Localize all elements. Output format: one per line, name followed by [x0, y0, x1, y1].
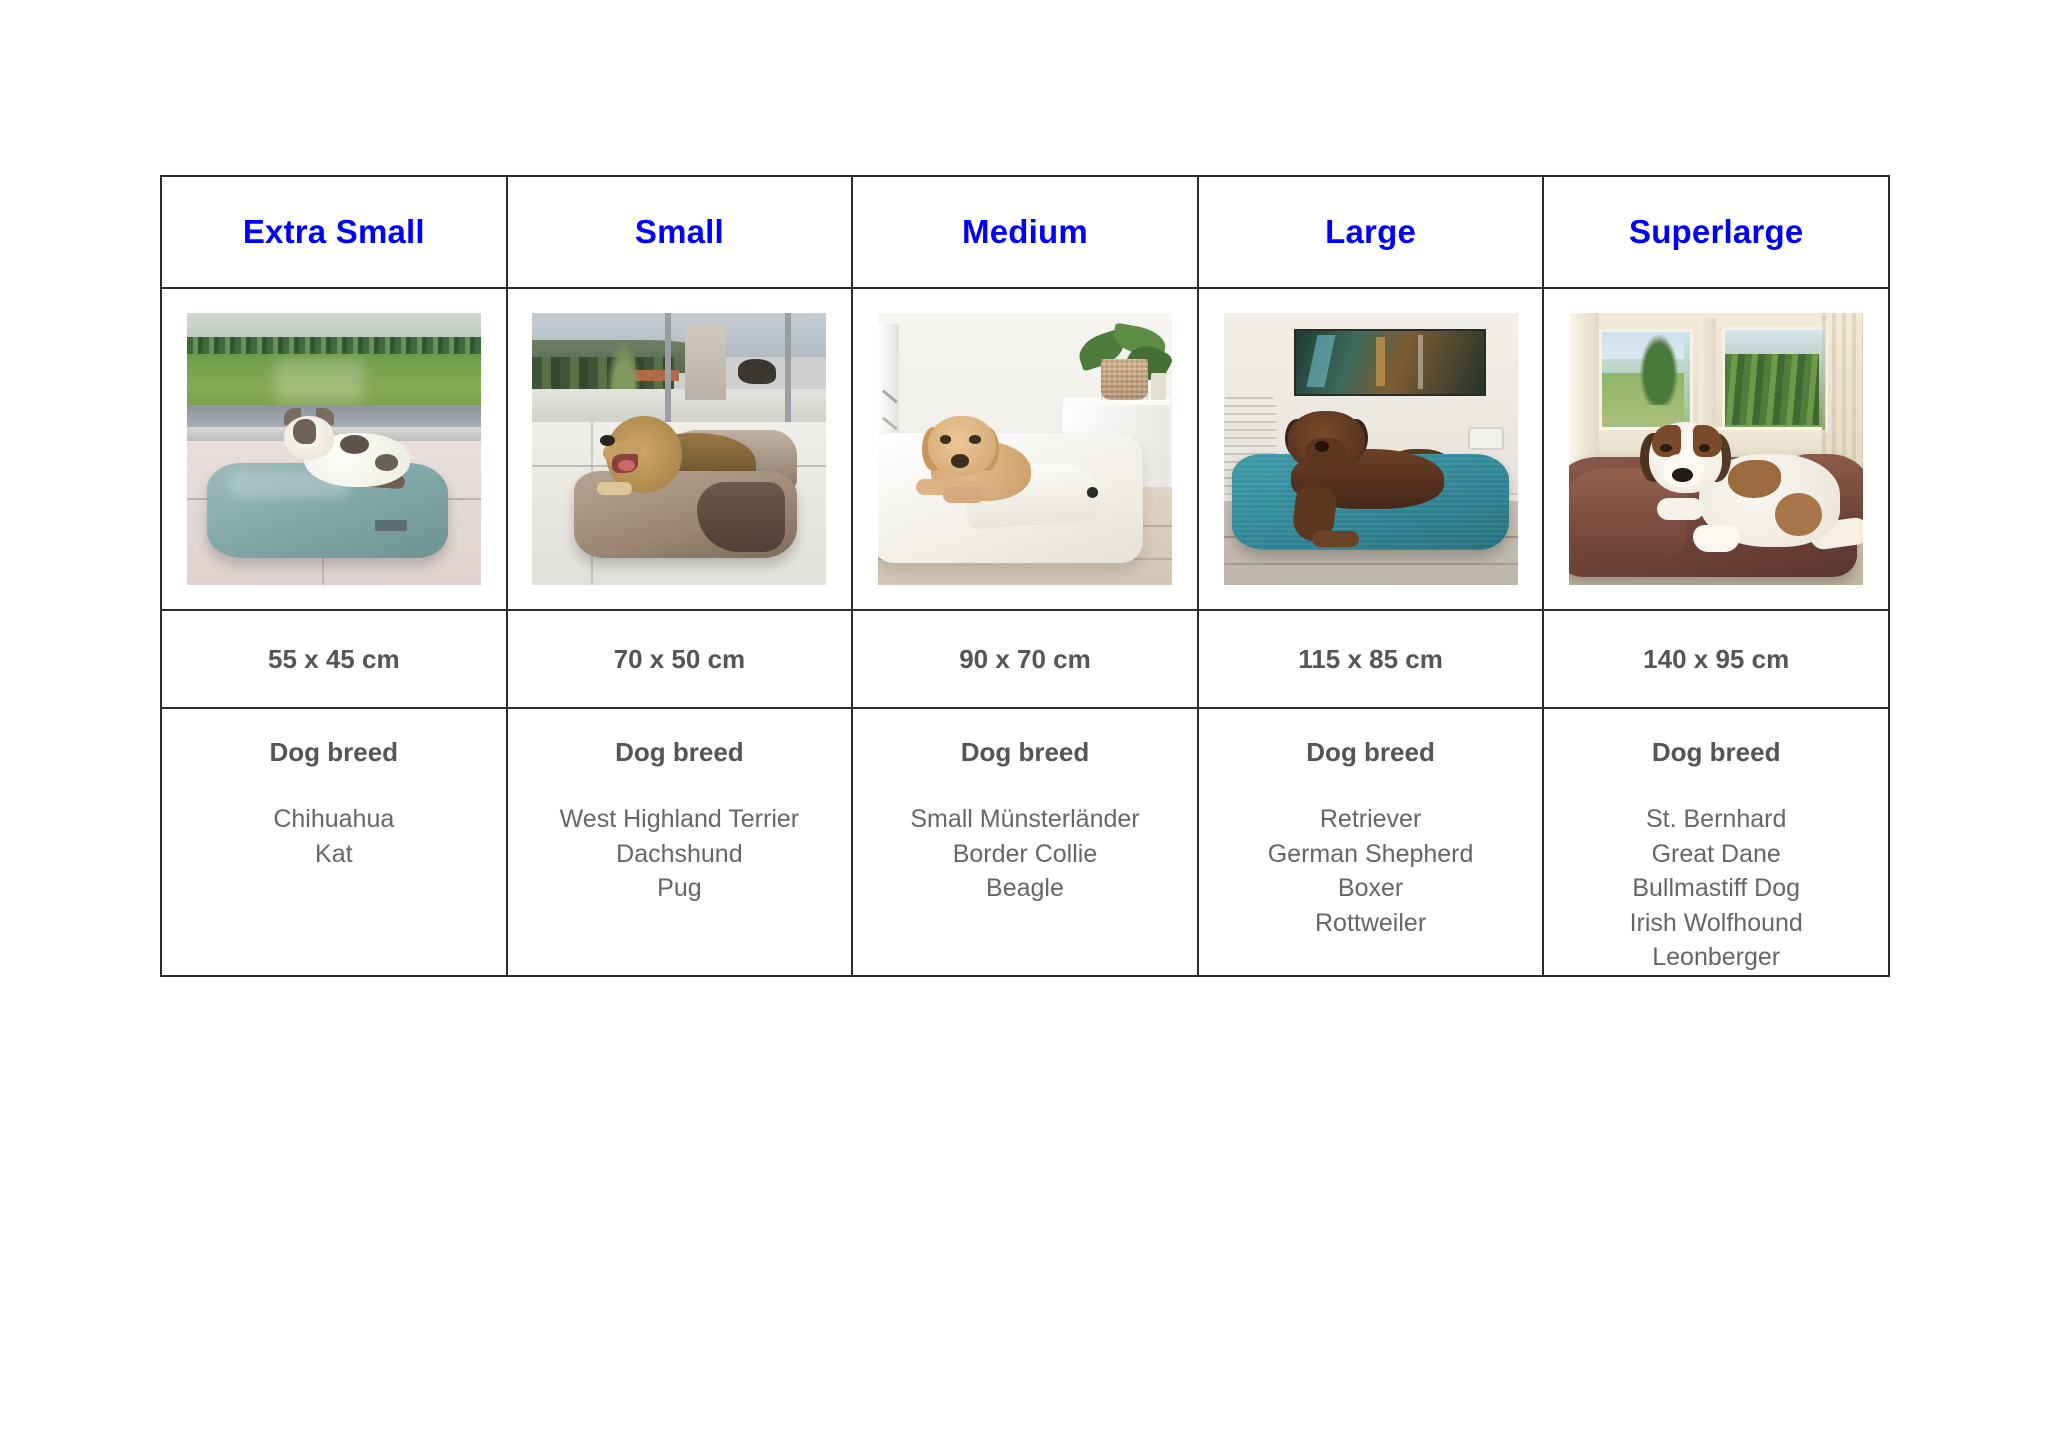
breed-heading-small: Dog breed — [508, 737, 852, 768]
dog-bed-size-table: Extra Small Small Medium Large Superlarg… — [160, 175, 1890, 977]
header-cell-superlarge: Superlarge — [1543, 176, 1889, 288]
list-item: St. Bernhard — [1544, 802, 1888, 837]
breeds-cell-large: Dog breed Retriever German Shepherd Boxe… — [1198, 708, 1544, 976]
dimensions-small: 70 x 50 cm — [508, 644, 852, 675]
size-title-small: Small — [508, 214, 852, 250]
dimensions-large: 115 x 85 cm — [1199, 644, 1543, 675]
product-photo-superlarge — [1569, 313, 1863, 585]
list-item: Great Dane — [1544, 837, 1888, 872]
table-photo-row — [161, 288, 1889, 610]
size-title-extra-small: Extra Small — [162, 214, 506, 250]
header-cell-medium: Medium — [852, 176, 1198, 288]
dimensions-cell-large: 115 x 85 cm — [1198, 610, 1544, 708]
breeds-cell-superlarge: Dog breed St. Bernhard Great Dane Bullma… — [1543, 708, 1889, 976]
size-title-large: Large — [1199, 214, 1543, 250]
photo-cell-extra-small — [161, 288, 507, 610]
list-item: Leonberger — [1544, 940, 1888, 975]
breed-heading-superlarge: Dog breed — [1544, 737, 1888, 768]
breeds-cell-medium: Dog breed Small Münsterländer Border Col… — [852, 708, 1198, 976]
dimensions-superlarge: 140 x 95 cm — [1544, 644, 1888, 675]
dimensions-cell-medium: 90 x 70 cm — [852, 610, 1198, 708]
photo-cell-large — [1198, 288, 1544, 610]
table-breeds-row: Dog breed Chihuahua Kat Dog breed West H… — [161, 708, 1889, 976]
photo-cell-small — [507, 288, 853, 610]
list-item: Pug — [508, 871, 852, 906]
dimensions-extra-small: 55 x 45 cm — [162, 644, 506, 675]
header-cell-small: Small — [507, 176, 853, 288]
breed-list-superlarge: St. Bernhard Great Dane Bullmastiff Dog … — [1544, 802, 1888, 975]
product-photo-large — [1224, 313, 1518, 585]
photo-cell-medium — [852, 288, 1198, 610]
header-cell-large: Large — [1198, 176, 1544, 288]
breed-list-small: West Highland Terrier Dachshund Pug — [508, 802, 852, 906]
list-item: Retriever — [1199, 802, 1543, 837]
list-item: Dachshund — [508, 837, 852, 872]
dimensions-cell-superlarge: 140 x 95 cm — [1543, 610, 1889, 708]
product-photo-small — [532, 313, 826, 585]
size-chart-page: Extra Small Small Medium Large Superlarg… — [0, 0, 2048, 1448]
breed-list-medium: Small Münsterländer Border Collie Beagle — [853, 802, 1197, 906]
list-item: Kat — [162, 837, 506, 872]
list-item: Beagle — [853, 871, 1197, 906]
product-photo-extra-small — [187, 313, 481, 585]
list-item: Boxer — [1199, 871, 1543, 906]
list-item: Small Münsterländer — [853, 802, 1197, 837]
breed-heading-medium: Dog breed — [853, 737, 1197, 768]
product-photo-medium — [878, 313, 1172, 585]
breed-heading-large: Dog breed — [1199, 737, 1543, 768]
size-title-superlarge: Superlarge — [1544, 214, 1888, 250]
list-item: Bullmastiff Dog — [1544, 871, 1888, 906]
table-header-row: Extra Small Small Medium Large Superlarg… — [161, 176, 1889, 288]
list-item: German Shepherd — [1199, 837, 1543, 872]
table-dimensions-row: 55 x 45 cm 70 x 50 cm 90 x 70 cm 115 x 8… — [161, 610, 1889, 708]
list-item: Irish Wolfhound — [1544, 906, 1888, 941]
breed-heading-extra-small: Dog breed — [162, 737, 506, 768]
dimensions-medium: 90 x 70 cm — [853, 644, 1197, 675]
list-item: Rottweiler — [1199, 906, 1543, 941]
list-item: West Highland Terrier — [508, 802, 852, 837]
breed-list-large: Retriever German Shepherd Boxer Rottweil… — [1199, 802, 1543, 940]
breed-list-extra-small: Chihuahua Kat — [162, 802, 506, 871]
list-item: Chihuahua — [162, 802, 506, 837]
dimensions-cell-small: 70 x 50 cm — [507, 610, 853, 708]
breeds-cell-extra-small: Dog breed Chihuahua Kat — [161, 708, 507, 976]
breeds-cell-small: Dog breed West Highland Terrier Dachshun… — [507, 708, 853, 976]
dimensions-cell-extra-small: 55 x 45 cm — [161, 610, 507, 708]
photo-cell-superlarge — [1543, 288, 1889, 610]
header-cell-extra-small: Extra Small — [161, 176, 507, 288]
size-title-medium: Medium — [853, 214, 1197, 250]
list-item: Border Collie — [853, 837, 1197, 872]
